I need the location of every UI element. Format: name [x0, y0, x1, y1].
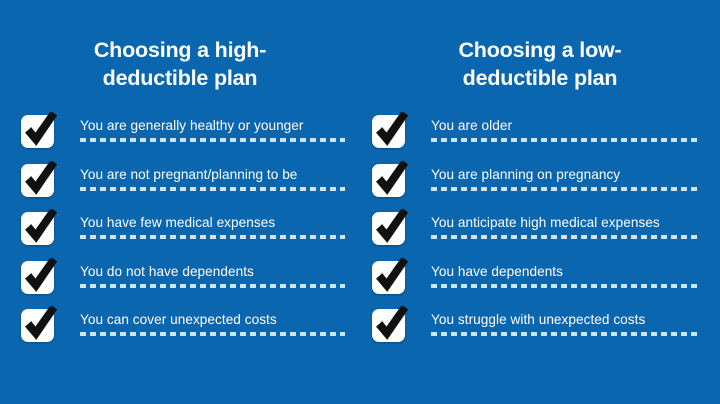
list-item: You do not have dependents	[0, 259, 360, 308]
checkbox-checked	[372, 164, 405, 197]
checkmark-icon	[374, 305, 410, 343]
checkbox-checked	[372, 212, 405, 245]
list-item: You have dependents	[360, 259, 720, 308]
checkbox-checked	[21, 164, 54, 197]
list-item: You struggle with unexpected costs	[360, 307, 720, 356]
checkbox-checked	[372, 309, 405, 342]
checkbox-checked	[372, 261, 405, 294]
checkmark-icon	[374, 160, 410, 198]
list-item-label: You anticipate high medical expenses	[431, 214, 698, 231]
heading-line-2: deductible plan	[463, 66, 618, 90]
dotted-divider	[80, 284, 345, 288]
list-item-body: You struggle with unexpected costs	[431, 307, 698, 336]
heading-line-1: Choosing a low-	[458, 38, 621, 62]
infographic-canvas: Choosing a high- deductible plan	[0, 0, 720, 404]
checkmark-icon	[23, 257, 59, 295]
list-item: You are not pregnant/planning to be	[0, 162, 360, 211]
dotted-divider	[80, 332, 345, 336]
checkbox-checked	[21, 115, 54, 148]
list-item-label: You have few medical expenses	[80, 214, 345, 231]
list-item-body: You are generally healthy or younger	[80, 113, 345, 142]
list-item: You are generally healthy or younger	[0, 113, 360, 162]
dotted-divider	[431, 332, 698, 336]
checkbox-checked	[21, 309, 54, 342]
list-item-body: You anticipate high medical expenses	[431, 210, 698, 239]
dotted-divider	[431, 284, 698, 288]
checkbox-checked	[21, 261, 54, 294]
dotted-divider	[80, 138, 345, 142]
list-item-body: You are older	[431, 113, 698, 142]
list-item-label: You are planning on pregnancy	[431, 166, 698, 183]
checkmark-icon	[23, 160, 59, 198]
column-high-deductible: Choosing a high- deductible plan	[0, 0, 360, 404]
heading-line-1: Choosing a high-	[94, 38, 266, 62]
checklist-high-deductible: You are generally healthy or younger	[0, 113, 360, 356]
column-heading-low-deductible: Choosing a low- deductible plan	[360, 36, 720, 92]
list-item: You have few medical expenses	[0, 210, 360, 259]
list-item-body: You are planning on pregnancy	[431, 162, 698, 191]
list-item-body: You can cover unexpected costs	[80, 307, 345, 336]
checkmark-icon	[23, 208, 59, 246]
list-item-body: You do not have dependents	[80, 259, 345, 288]
list-item-label: You are generally healthy or younger	[80, 117, 345, 134]
checkbox-checked	[372, 115, 405, 148]
list-item-body: You are not pregnant/planning to be	[80, 162, 345, 191]
checkmark-icon	[23, 305, 59, 343]
checkbox-checked	[21, 212, 54, 245]
list-item-label: You have dependents	[431, 263, 698, 280]
list-item-body: You have dependents	[431, 259, 698, 288]
checkmark-icon	[374, 208, 410, 246]
list-item: You are older	[360, 113, 720, 162]
checkmark-icon	[374, 257, 410, 295]
checkmark-icon	[23, 111, 59, 149]
list-item-label: You are not pregnant/planning to be	[80, 166, 345, 183]
list-item-label: You struggle with unexpected costs	[431, 311, 698, 328]
list-item-label: You can cover unexpected costs	[80, 311, 345, 328]
list-item-label: You are older	[431, 117, 698, 134]
list-item: You are planning on pregnancy	[360, 162, 720, 211]
column-heading-high-deductible: Choosing a high- deductible plan	[0, 36, 360, 92]
dotted-divider	[431, 138, 698, 142]
list-item-label: You do not have dependents	[80, 263, 345, 280]
list-item: You can cover unexpected costs	[0, 307, 360, 356]
checkmark-icon	[374, 111, 410, 149]
dotted-divider	[431, 187, 698, 191]
dotted-divider	[431, 235, 698, 239]
checklist-low-deductible: You are older	[360, 113, 720, 356]
list-item: You anticipate high medical expenses	[360, 210, 720, 259]
comparison-columns: Choosing a high- deductible plan	[0, 0, 720, 404]
heading-line-2: deductible plan	[103, 66, 258, 90]
dotted-divider	[80, 187, 345, 191]
column-low-deductible: Choosing a low- deductible plan	[360, 0, 720, 404]
dotted-divider	[80, 235, 345, 239]
list-item-body: You have few medical expenses	[80, 210, 345, 239]
